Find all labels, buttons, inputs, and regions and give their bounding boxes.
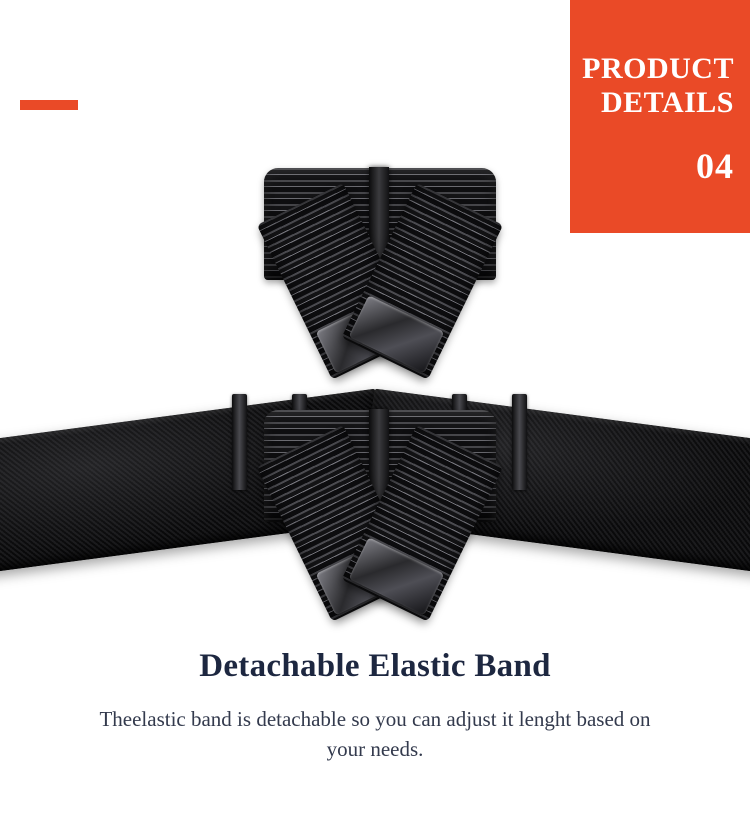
- elastic-band-attached-image: [250, 410, 510, 625]
- belt-loop-left: [232, 394, 247, 490]
- product-detail-page: PRODUCT DETAILS 04: [0, 0, 750, 833]
- badge-title-line-2: DETAILS: [580, 86, 734, 120]
- badge-title-line-1: PRODUCT: [580, 52, 734, 86]
- back-support-belt-image: [0, 388, 750, 638]
- accent-dash: [20, 100, 78, 110]
- caption-body: Theelastic band is detachable so you can…: [95, 704, 655, 764]
- product-image-stage: [0, 150, 750, 640]
- elastic-band-standalone-image: [250, 168, 510, 383]
- caption-block: Detachable Elastic Band Theelastic band …: [0, 645, 750, 764]
- belt-loop-right: [512, 394, 527, 490]
- caption-title: Detachable Elastic Band: [0, 645, 750, 687]
